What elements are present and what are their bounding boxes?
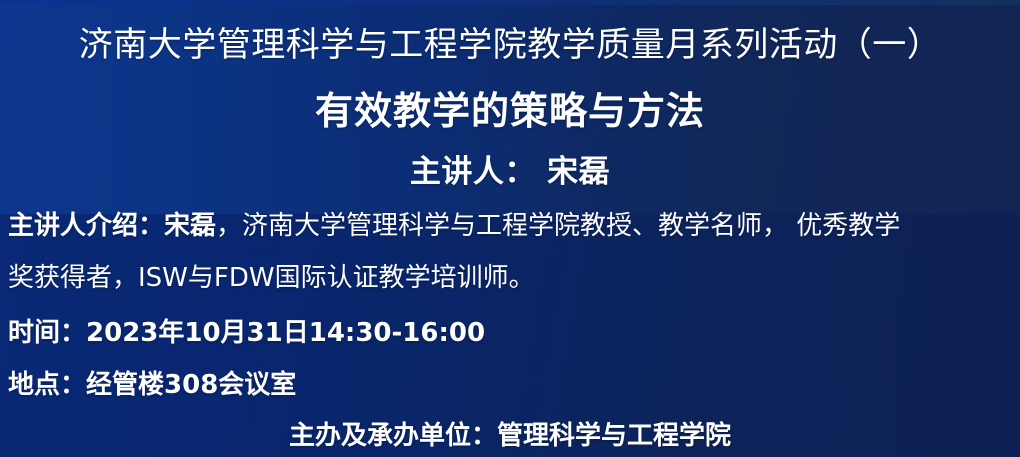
speaker-intro-name: 宋磊 [164, 211, 216, 241]
event-place-label: 地点： [8, 370, 86, 400]
speaker-title: 主讲人： 宋磊 [0, 150, 1020, 194]
event-time-label: 时间： [8, 318, 86, 348]
event-time-line: 时间：2023年10月31日14:30-16:00 [8, 314, 1016, 352]
event-place-line: 地点：经管楼308会议室 [8, 366, 1016, 404]
event-poster: 济南大学管理科学与工程学院教学质量月系列活动（一） 有效教学的策略与方法 主讲人… [0, 0, 1020, 457]
speaker-intro-line-1: 主讲人介绍：宋磊，济南大学管理科学与工程学院教授、教学名师， 优秀教学 [8, 207, 1016, 245]
speaker-intro-label: 主讲人介绍： [8, 211, 164, 241]
main-title: 有效教学的策略与方法 [0, 86, 1020, 136]
event-time-value: 2023年10月31日14:30-16:00 [86, 318, 485, 348]
event-place-value: 经管楼308会议室 [86, 370, 296, 400]
series-title: 济南大学管理科学与工程学院教学质量月系列活动（一） [0, 22, 1020, 68]
poster-content: 济南大学管理科学与工程学院教学质量月系列活动（一） 有效教学的策略与方法 主讲人… [0, 0, 1020, 457]
organizer-line: 主办及承办单位：管理科学与工程学院 [0, 417, 1020, 455]
speaker-intro-rest: ，济南大学管理科学与工程学院教授、教学名师， 优秀教学 [216, 211, 900, 241]
speaker-intro-line-2: 奖获得者，ISW与FDW国际认证教学培训师。 [8, 259, 1016, 297]
